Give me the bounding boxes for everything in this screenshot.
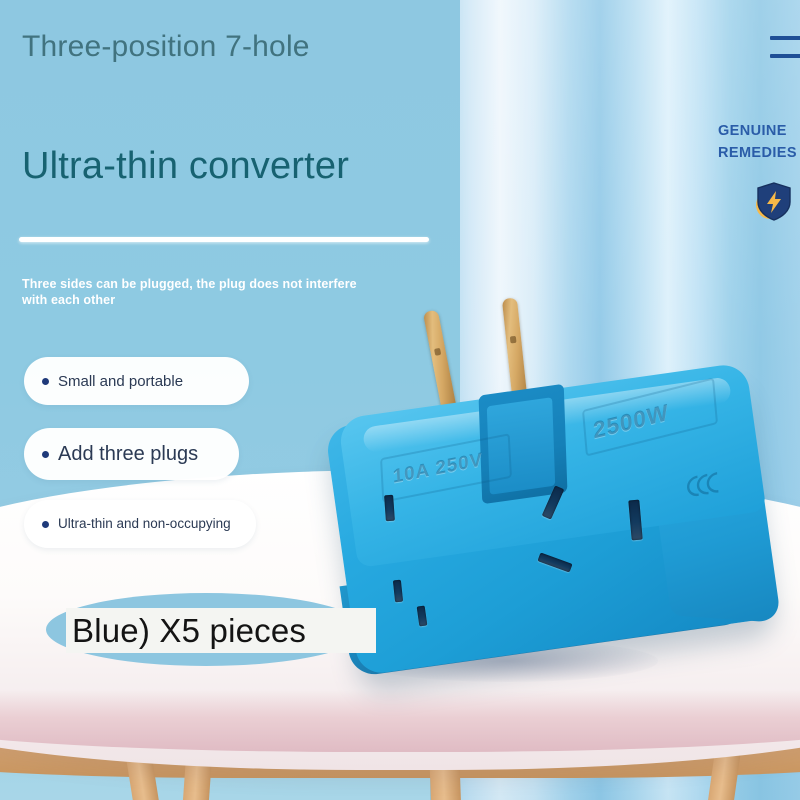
variant-label: Blue) X5 pieces bbox=[72, 607, 412, 655]
bullet-dot-icon bbox=[42, 378, 49, 385]
feature-pill-ultra-thin: Ultra-thin and non-occupying bbox=[24, 500, 256, 548]
feature-label: Ultra-thin and non-occupying bbox=[58, 516, 231, 532]
brand-name: GENUINE REMEDIES bbox=[718, 120, 800, 164]
bullet-dot-icon bbox=[42, 451, 49, 458]
dash-mark-icon bbox=[770, 36, 800, 72]
feature-label: Add three plugs bbox=[58, 443, 198, 466]
header-divider bbox=[19, 237, 429, 242]
socket-slot bbox=[384, 495, 395, 522]
product-marketing-image: 2500W 10A 250V Three-position 7-hole Ult… bbox=[0, 0, 800, 800]
feature-label: Small and portable bbox=[58, 373, 183, 390]
feature-pill-add-three-plugs: Add three plugs bbox=[24, 428, 239, 480]
product-subtitle: Three-position 7-hole bbox=[22, 28, 392, 66]
shield-bolt-icon bbox=[750, 178, 796, 224]
page-title: Ultra-thin converter bbox=[22, 143, 492, 189]
brand-name-line2: REMEDIES bbox=[718, 142, 800, 164]
bullet-dot-icon bbox=[42, 521, 49, 528]
brand-name-line1: GENUINE bbox=[718, 120, 800, 142]
product-tagline: Three sides can be plugged, the plug doe… bbox=[22, 276, 367, 308]
feature-pill-small-portable: Small and portable bbox=[24, 357, 249, 405]
